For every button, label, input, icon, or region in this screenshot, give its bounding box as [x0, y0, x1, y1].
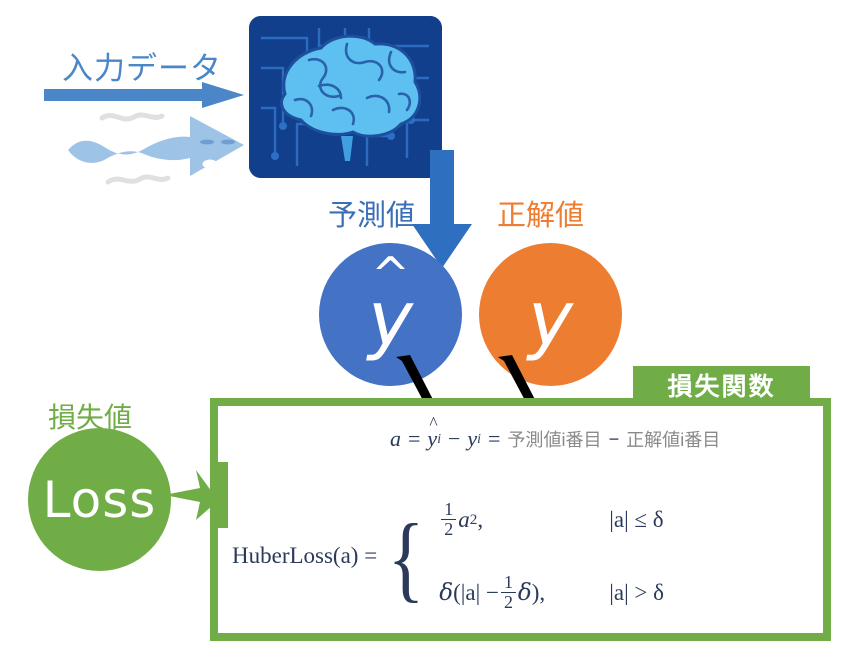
fraction-numerator: 1	[441, 500, 456, 520]
case-2-close: ),	[532, 580, 545, 606]
fraction-denominator: 2	[501, 593, 516, 612]
fish-data-stream-icon	[58, 104, 253, 188]
case-2-open: (|a| −	[453, 580, 499, 606]
one-half-fraction: 1 2	[501, 573, 516, 612]
left-arrow-icon	[150, 462, 228, 528]
case-1-var: a	[458, 507, 470, 533]
eq-pred-word: 予測値	[507, 426, 561, 452]
eq-a: a	[390, 426, 401, 452]
diagram-canvas: 入力データ	[0, 0, 851, 662]
eq-equals-1: =	[408, 426, 420, 452]
hat-accent: ^	[371, 251, 410, 297]
hat-accent: ^	[429, 413, 437, 434]
y-hat-symbol: ^ y	[368, 281, 413, 357]
case-1-comma: ,	[477, 507, 483, 533]
huber-loss-lhs: HuberLoss(a) =	[232, 543, 377, 569]
case-1-expression: 1 2 a2,	[439, 500, 609, 539]
fraction-denominator: 2	[441, 520, 456, 539]
eq-y-truth: y	[467, 426, 477, 452]
case-row: 1 2 a2, |a| ≤ δ	[439, 500, 664, 539]
case-2-condition: |a| > δ	[609, 580, 664, 606]
eq-minus-1: −	[448, 426, 460, 452]
residual-equation: a = ^ y i − yi = 予測値i番目 − 正解値i番目	[390, 426, 720, 452]
fraction-numerator: 1	[501, 573, 516, 593]
eq-y-hat: ^ y	[427, 426, 437, 452]
one-half-fraction: 1 2	[441, 500, 456, 539]
eq-equals-2: =	[488, 426, 500, 452]
case-2-expression: δ(|a| − 1 2 δ),	[439, 573, 609, 612]
y-symbol: y	[528, 281, 573, 357]
eq-truth-subscript: i	[477, 431, 481, 447]
eq-pred-subscript: i	[437, 431, 441, 447]
eq-truth-word: 正解値	[626, 426, 680, 452]
truth-label: 正解値	[497, 192, 584, 234]
prediction-label: 予測値	[328, 192, 415, 234]
piecewise-cases: 1 2 a2, |a| ≤ δ δ(|a| − 1 2 δ), |a| > δ	[439, 500, 664, 612]
eq-minus-2: −	[609, 429, 620, 450]
case-2-delta: δ	[439, 580, 453, 606]
huber-loss-equation: HuberLoss(a) = { 1 2 a2, |a| ≤ δ δ(|a| −…	[232, 500, 664, 612]
case-row: δ(|a| − 1 2 δ), |a| > δ	[439, 573, 664, 612]
case-1-condition: |a| ≤ δ	[609, 507, 663, 533]
case-1-exponent: 2	[470, 511, 478, 529]
loss-function-badge: 損失関数	[633, 366, 810, 404]
case-2-delta-2: δ	[518, 580, 532, 606]
eq-pred-word-subscript: i番目	[562, 426, 602, 452]
eq-truth-word-subscript: i番目	[680, 426, 720, 452]
loss-symbol: Loss	[43, 471, 157, 529]
